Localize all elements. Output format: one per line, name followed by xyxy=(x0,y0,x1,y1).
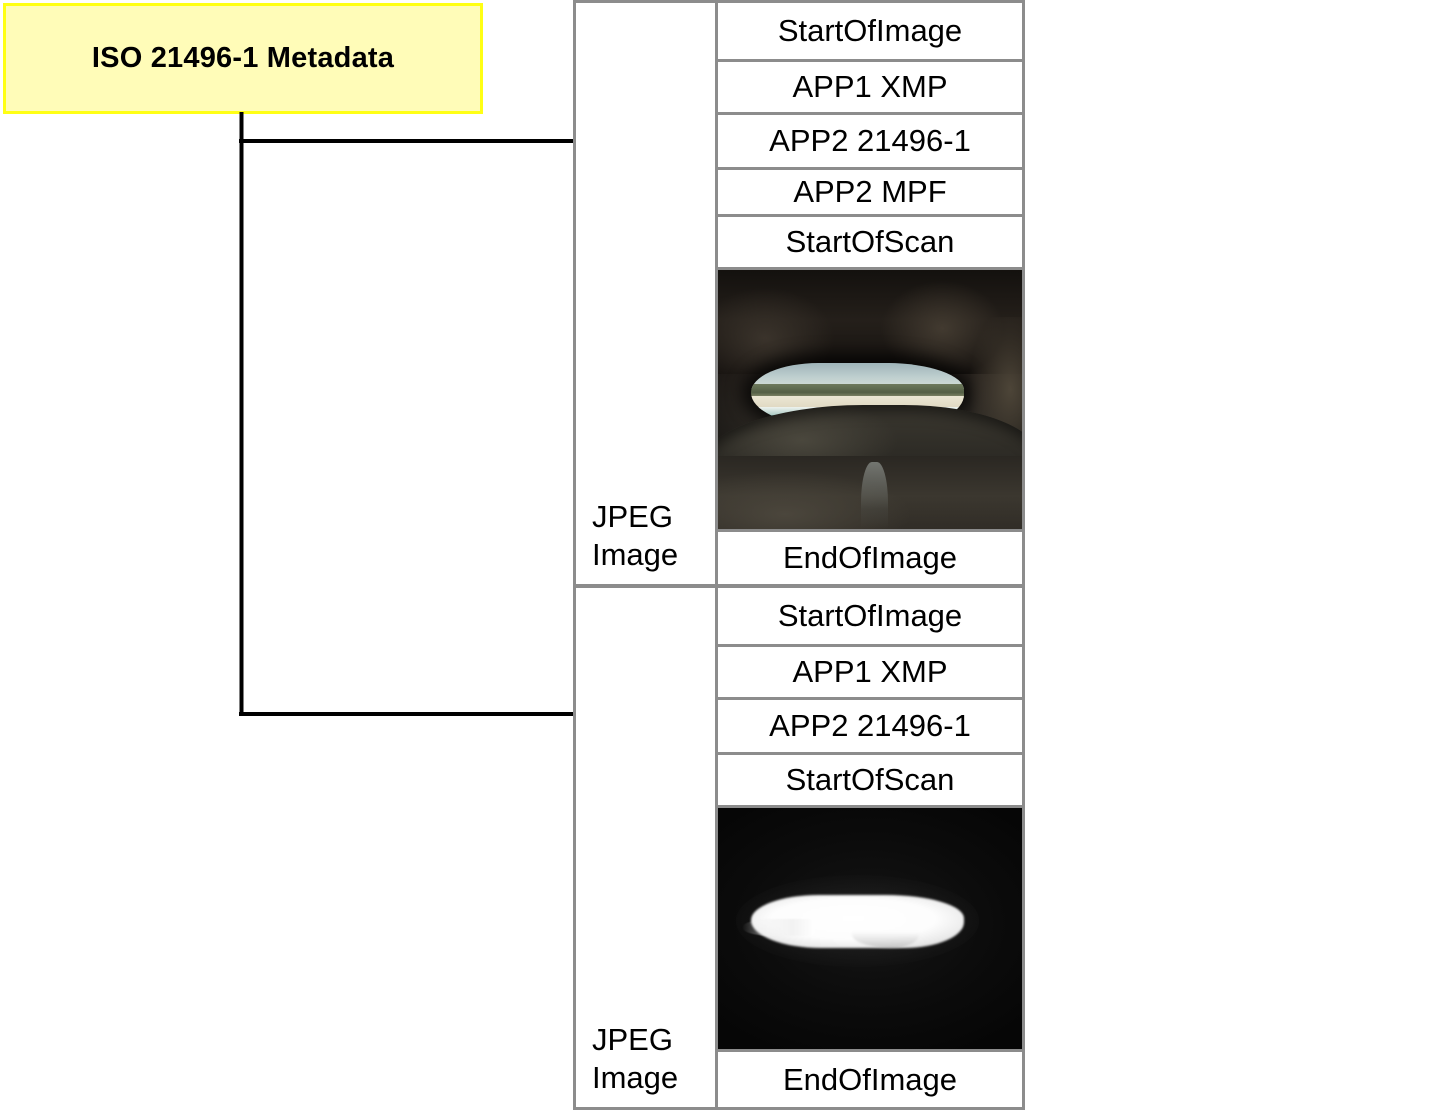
segment-start-of-image: StartOfImage xyxy=(718,3,1022,62)
segment-end-of-image: EndOfImage xyxy=(718,532,1022,584)
segment-app2-mpf: APP2 MPF xyxy=(718,170,1022,217)
jpeg-image-label-cell-2: JPEG Image xyxy=(576,588,718,1107)
jpeg-image-container-2: JPEG Image StartOfImage APP1 XMP APP2 21… xyxy=(573,585,1025,1110)
iso-metadata-label: ISO 21496-1 Metadata xyxy=(92,42,394,75)
segment-app2-21496-1: APP2 21496-1 xyxy=(718,700,1022,755)
segment-start-of-image: StartOfImage xyxy=(718,588,1022,647)
jpeg-image-label: JPEG Image xyxy=(592,498,678,574)
gain-map-image xyxy=(718,808,1022,1049)
jpeg-image-label: JPEG Image xyxy=(592,1021,678,1097)
segment-app1-xmp: APP1 XMP xyxy=(718,647,1022,700)
cave-beach-photo xyxy=(718,270,1022,529)
segment-start-of-scan: StartOfScan xyxy=(718,217,1022,270)
cave-crevice-light xyxy=(861,462,888,529)
sdr-base-image-payload xyxy=(718,270,1022,532)
iso-metadata-box: ISO 21496-1 Metadata xyxy=(3,3,483,114)
hdr-gain-map-payload xyxy=(718,808,1022,1052)
jpeg-segment-stack-1: StartOfImage APP1 XMP APP2 21496-1 APP2 … xyxy=(718,3,1022,584)
segment-end-of-image: EndOfImage xyxy=(718,1052,1022,1107)
segment-app2-21496-1: APP2 21496-1 xyxy=(718,115,1022,170)
jpeg-segment-stack-2: StartOfImage APP1 XMP APP2 21496-1 Start… xyxy=(718,588,1022,1107)
jpeg-image-label-cell-1: JPEG Image xyxy=(576,3,718,584)
jpeg-image-container-1: JPEG Image StartOfImage APP1 XMP APP2 21… xyxy=(573,0,1025,587)
gain-map-tail xyxy=(742,919,815,936)
segment-start-of-scan: StartOfScan xyxy=(718,755,1022,808)
segment-app1-xmp: APP1 XMP xyxy=(718,62,1022,115)
